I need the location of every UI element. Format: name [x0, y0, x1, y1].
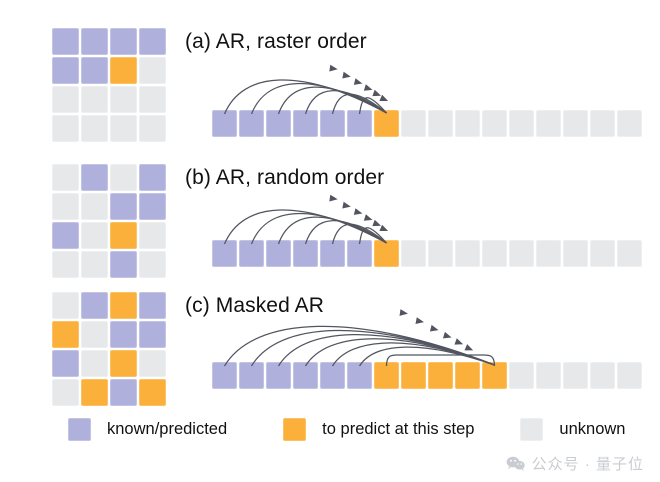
grid-cell-unknown: [110, 86, 137, 113]
grid-cell-known: [110, 251, 137, 278]
sequence-cell-predict: [374, 240, 399, 267]
sequence-cell-unknown: [617, 362, 642, 389]
grid-cell-known: [52, 350, 79, 377]
sequence-cell-known: [239, 240, 264, 267]
panel-a: (a) AR, raster order: [0, 14, 660, 154]
sequence-cell-predict: [401, 362, 426, 389]
sequence-cell-known: [293, 240, 318, 267]
legend-label: unknown: [559, 420, 625, 439]
legend-swatch-known: [68, 418, 91, 441]
figure-canvas: (a) AR, raster order (b) AR, random orde…: [0, 0, 660, 482]
panel-a-title: (a) AR, raster order: [185, 30, 367, 54]
grid-cell-unknown: [81, 350, 108, 377]
grid-cell-known: [139, 193, 166, 220]
legend-item-predict: to predict at this step: [283, 418, 474, 441]
token-grid-a: [52, 28, 166, 142]
grid-cell-known: [110, 379, 137, 406]
watermark: 公众号 · 量子位: [506, 453, 644, 474]
sequence-cell-unknown: [563, 240, 588, 267]
sequence-cell-unknown: [401, 240, 426, 267]
sequence-cell-known: [347, 110, 372, 137]
sequence-cell-unknown: [536, 362, 561, 389]
sequence-cell-unknown: [563, 362, 588, 389]
grid-cell-unknown: [52, 379, 79, 406]
sequence-cell-known: [266, 110, 291, 137]
grid-cell-known: [139, 292, 166, 319]
grid-cell-known: [81, 28, 108, 55]
panel-b-title: (b) AR, random order: [185, 166, 384, 190]
sequence-cell-predict: [374, 362, 399, 389]
grid-cell-unknown: [139, 350, 166, 377]
grid-cell-unknown: [52, 115, 79, 142]
sequence-cell-unknown: [617, 240, 642, 267]
sequence-cell-predict: [374, 110, 399, 137]
watermark-text: 公众号 · 量子位: [532, 453, 644, 474]
sequence-cell-unknown: [563, 110, 588, 137]
sequence-cell-unknown: [590, 362, 615, 389]
grid-cell-predict: [52, 321, 79, 348]
grid-cell-unknown: [139, 57, 166, 84]
sequence-cell-unknown: [617, 110, 642, 137]
grid-cell-unknown: [110, 115, 137, 142]
sequence-cell-unknown: [509, 110, 534, 137]
panel-b: (b) AR, random order: [0, 150, 660, 285]
sequence-cell-known: [266, 362, 291, 389]
grid-cell-unknown: [52, 251, 79, 278]
sequence-cell-known: [212, 110, 237, 137]
panel-c: (c) Masked AR: [0, 278, 660, 406]
grid-cell-unknown: [139, 222, 166, 249]
grid-cell-predict: [110, 292, 137, 319]
grid-cell-predict: [139, 379, 166, 406]
grid-cell-unknown: [81, 86, 108, 113]
grid-cell-unknown: [81, 222, 108, 249]
grid-cell-unknown: [110, 164, 137, 191]
legend-swatch-predict: [283, 418, 306, 441]
legend-label: known/predicted: [107, 420, 227, 439]
sequence-cell-unknown: [401, 110, 426, 137]
dependency-arrows-b: [205, 184, 435, 246]
sequence-cell-known: [320, 240, 345, 267]
dependency-arrows-a: [205, 54, 435, 116]
grid-cell-unknown: [81, 115, 108, 142]
sequence-cell-known: [212, 362, 237, 389]
sequence-cell-unknown: [509, 362, 534, 389]
grid-cell-unknown: [139, 86, 166, 113]
sequence-cell-predict: [482, 362, 507, 389]
sequence-strip-b: [212, 240, 642, 267]
grid-cell-predict: [110, 222, 137, 249]
panel-c-title: (c) Masked AR: [185, 294, 324, 318]
grid-cell-known: [52, 57, 79, 84]
sequence-cell-unknown: [428, 240, 453, 267]
token-grid-c: [52, 292, 166, 406]
grid-cell-unknown: [139, 251, 166, 278]
grid-cell-unknown: [52, 292, 79, 319]
sequence-cell-known: [347, 240, 372, 267]
grid-cell-unknown: [81, 321, 108, 348]
sequence-cell-known: [293, 110, 318, 137]
sequence-cell-known: [239, 362, 264, 389]
sequence-cell-unknown: [455, 240, 480, 267]
grid-cell-known: [110, 28, 137, 55]
legend-item-unknown: unknown: [520, 418, 625, 441]
sequence-cell-predict: [455, 362, 480, 389]
sequence-cell-known: [293, 362, 318, 389]
grid-cell-known: [81, 292, 108, 319]
sequence-cell-unknown: [428, 110, 453, 137]
grid-cell-known: [52, 28, 79, 55]
grid-cell-known: [110, 321, 137, 348]
grid-cell-predict: [110, 57, 137, 84]
sequence-strip-c: [212, 362, 642, 389]
sequence-cell-unknown: [536, 240, 561, 267]
grid-cell-known: [139, 321, 166, 348]
sequence-cell-known: [266, 240, 291, 267]
sequence-strip-a: [212, 110, 642, 137]
sequence-cell-unknown: [509, 240, 534, 267]
legend: known/predictedto predict at this stepun…: [0, 418, 660, 441]
grid-cell-unknown: [52, 164, 79, 191]
legend-swatch-unknown: [520, 418, 543, 441]
sequence-cell-known: [320, 362, 345, 389]
sequence-cell-unknown: [482, 240, 507, 267]
grid-cell-predict: [110, 350, 137, 377]
sequence-cell-unknown: [536, 110, 561, 137]
grid-cell-known: [139, 164, 166, 191]
grid-cell-unknown: [81, 193, 108, 220]
grid-cell-unknown: [81, 251, 108, 278]
grid-cell-predict: [81, 379, 108, 406]
token-grid-b: [52, 164, 166, 278]
sequence-cell-known: [239, 110, 264, 137]
sequence-cell-unknown: [590, 110, 615, 137]
grid-cell-known: [139, 28, 166, 55]
sequence-cell-known: [212, 240, 237, 267]
grid-cell-known: [81, 164, 108, 191]
grid-cell-known: [110, 193, 137, 220]
wechat-icon: [506, 456, 525, 471]
legend-label: to predict at this step: [322, 420, 474, 439]
grid-cell-unknown: [139, 115, 166, 142]
grid-cell-known: [81, 57, 108, 84]
legend-item-known: known/predicted: [68, 418, 227, 441]
grid-cell-unknown: [52, 193, 79, 220]
sequence-cell-known: [347, 362, 372, 389]
grid-cell-unknown: [52, 86, 79, 113]
sequence-cell-known: [320, 110, 345, 137]
sequence-cell-unknown: [482, 110, 507, 137]
sequence-cell-unknown: [455, 110, 480, 137]
grid-cell-known: [52, 222, 79, 249]
sequence-cell-predict: [428, 362, 453, 389]
sequence-cell-unknown: [590, 240, 615, 267]
